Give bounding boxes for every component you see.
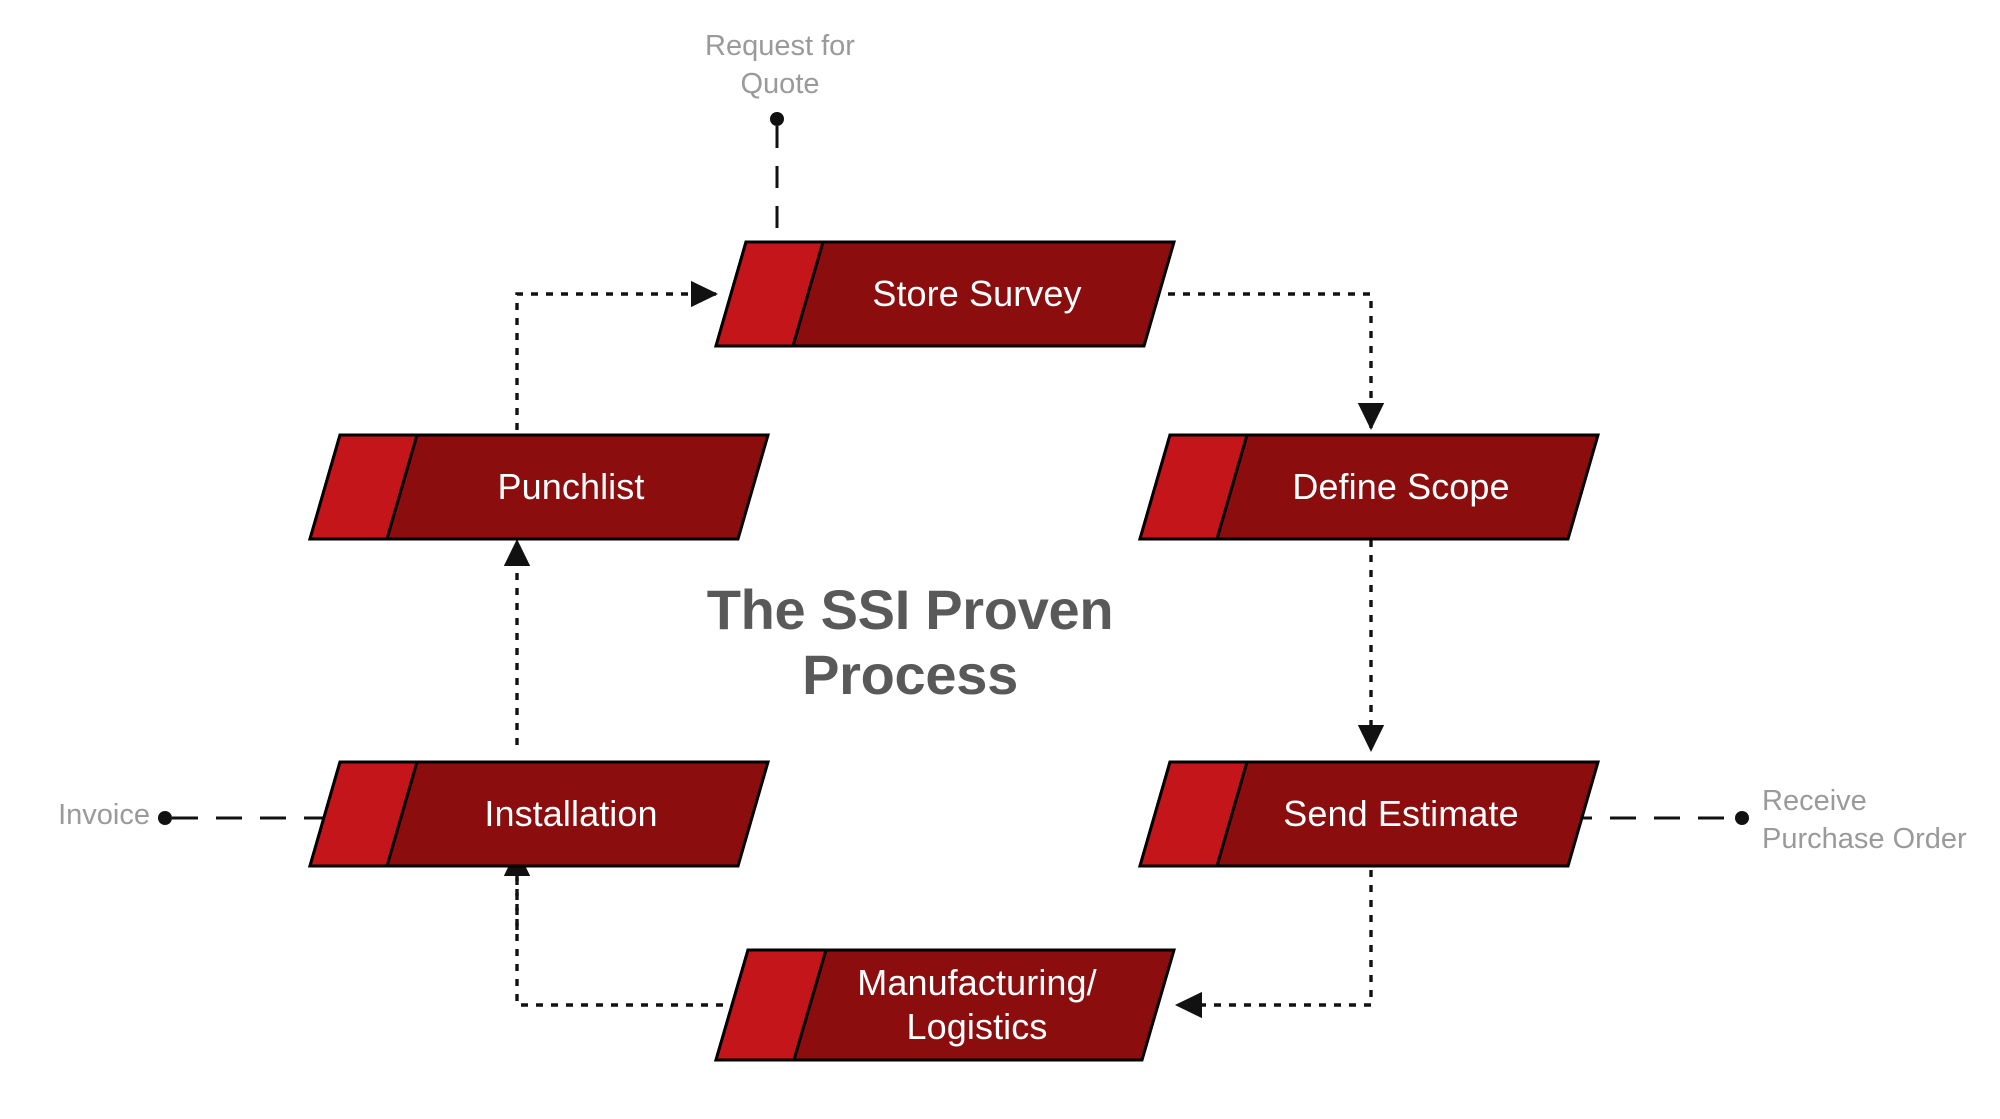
node-manufacturing-logistics[interactable]: Manufacturing/ Logistics (716, 948, 1176, 1062)
node-send-estimate[interactable]: Send Estimate (1140, 760, 1600, 868)
node-punchlist[interactable]: Punchlist (310, 433, 770, 541)
connector-origin-dot-invoice (158, 811, 172, 825)
external-label-receive-purchase-order: Receive Purchase Order (1762, 783, 2000, 858)
external-label-invoice: Invoice (20, 797, 150, 835)
connector-manufacturing-to-installation (517, 851, 723, 1005)
connector-end-dot-receive-purchase-order (1735, 811, 1749, 825)
node-store-survey[interactable]: Store Survey (716, 240, 1176, 348)
connector-store-survey-to-define-scope (1168, 294, 1371, 428)
external-label-request-for-quote: Request for Quote (645, 28, 915, 103)
connector-origin-dot-request-for-quote (770, 112, 784, 126)
connector-send-estimate-to-manufacturing (1177, 855, 1371, 1005)
node-define-scope[interactable]: Define Scope (1140, 433, 1600, 541)
node-installation[interactable]: Installation (310, 760, 770, 868)
diagram-title: The SSI Proven Process (620, 578, 1200, 708)
process-diagram-canvas: Store Survey Define Scope Send Estimate … (0, 0, 2000, 1119)
connector-request-for-quote-to-store-survey (770, 112, 784, 245)
